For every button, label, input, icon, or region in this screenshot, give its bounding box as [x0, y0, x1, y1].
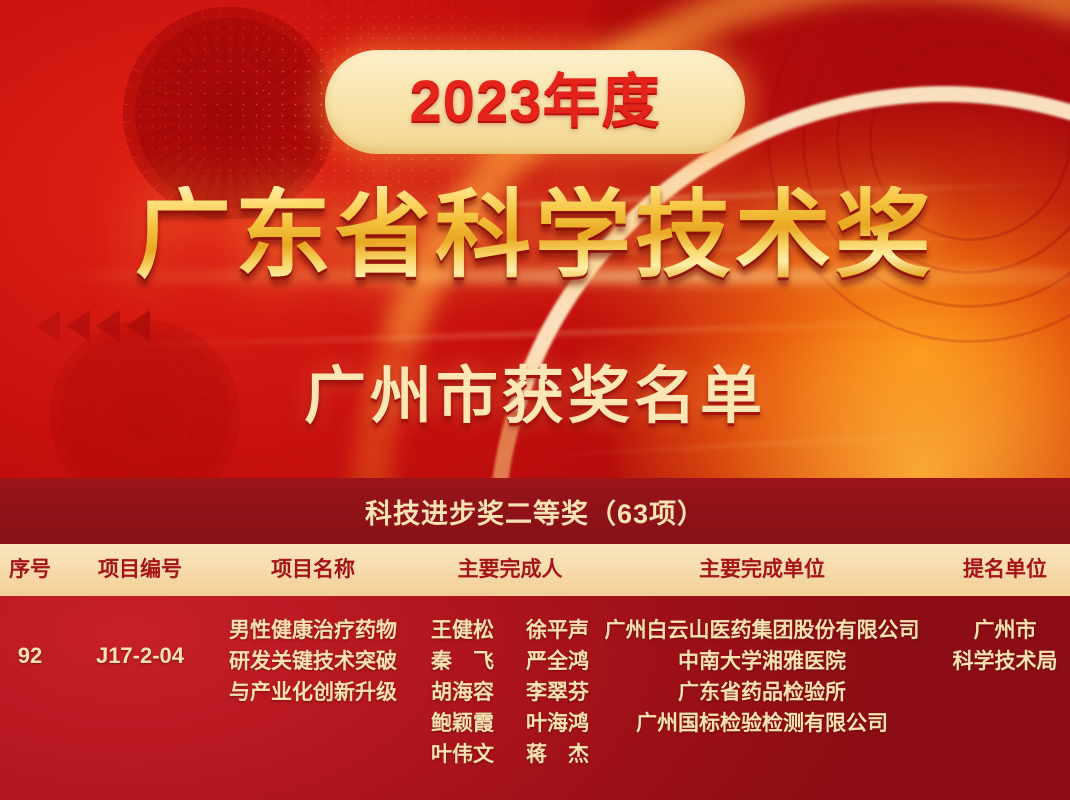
contributor-name: 叶海鸿	[510, 708, 605, 739]
table-header-row: 序号项目编号项目名称主要完成人主要完成单位提名单位	[0, 544, 1070, 596]
nominating-unit-line: 科学技术局	[935, 646, 1070, 677]
cell-project-code: J17-2-04	[65, 643, 215, 669]
contributor-line: 叶伟文蒋 杰	[415, 739, 605, 770]
cell-main-contributors: 王健松徐平声秦 飞严全鸿胡海容李翠芬鲍颖霞叶海鸿叶伟文蒋 杰	[415, 615, 605, 770]
contributor-line: 王健松徐平声	[415, 615, 605, 646]
column-header-seq[interactable]: 序号	[0, 544, 60, 596]
banner-hero: 2023年度 广东省科学技术奖 广州市获奖名单	[0, 0, 1070, 478]
column-header-orgs[interactable]: 主要完成单位	[597, 544, 927, 596]
contributor-name: 严全鸿	[510, 646, 605, 677]
contributor-name: 蒋 杰	[510, 739, 605, 770]
nominating-unit-line: 广州市	[935, 615, 1070, 646]
column-header-name[interactable]: 项目名称	[208, 544, 418, 596]
year-badge: 2023年度	[325, 50, 745, 154]
organization-line: 广州国标检验检测有限公司	[597, 708, 927, 739]
year-badge-label: 2023年度	[409, 73, 660, 131]
section-title: 科技进步奖二等奖（63项）	[365, 492, 705, 531]
contributor-name: 王健松	[415, 615, 510, 646]
column-header-code[interactable]: 项目编号	[65, 544, 215, 596]
cell-seq: 92	[0, 643, 60, 669]
page-subtitle: 广州市获奖名单	[0, 345, 1070, 435]
cell-main-organizations: 广州白云山医药集团股份有限公司中南大学湘雅医院广东省药品检验所广州国标检验检测有…	[597, 615, 927, 739]
contributor-name: 胡海容	[415, 677, 510, 708]
column-header-people[interactable]: 主要完成人	[415, 544, 605, 596]
contributor-name: 李翠芬	[510, 677, 605, 708]
page-title: 广东省科学技术奖	[0, 186, 1070, 287]
contributor-line: 鲍颖霞叶海鸿	[415, 708, 605, 739]
contributor-line: 胡海容李翠芬	[415, 677, 605, 708]
organization-line: 中南大学湘雅医院	[597, 646, 927, 677]
contributor-name: 秦 飞	[415, 646, 510, 677]
project-name-line: 男性健康治疗药物	[208, 615, 418, 646]
project-name-line: 研发关键技术突破	[208, 646, 418, 677]
award-list-page: 2023年度 广东省科学技术奖 广州市获奖名单 科技进步奖二等奖（63项） 序号…	[0, 0, 1070, 800]
contributor-line: 秦 飞严全鸿	[415, 646, 605, 677]
contributor-name: 徐平声	[510, 615, 605, 646]
section-band: 科技进步奖二等奖（63项）	[0, 478, 1070, 544]
project-name-line: 与产业化创新升级	[208, 677, 418, 708]
organization-line: 广东省药品检验所	[597, 677, 927, 708]
chevron-arrows-decoration	[36, 310, 150, 342]
table-body: 92J17-2-04男性健康治疗药物研发关键技术突破与产业化创新升级王健松徐平声…	[0, 596, 1070, 800]
cell-nominating-unit: 广州市科学技术局	[935, 615, 1070, 677]
contributor-name: 叶伟文	[415, 739, 510, 770]
column-header-nominator[interactable]: 提名单位	[935, 544, 1070, 596]
cell-project-name: 男性健康治疗药物研发关键技术突破与产业化创新升级	[208, 615, 418, 708]
contributor-name: 鲍颖霞	[415, 708, 510, 739]
organization-line: 广州白云山医药集团股份有限公司	[597, 615, 927, 646]
